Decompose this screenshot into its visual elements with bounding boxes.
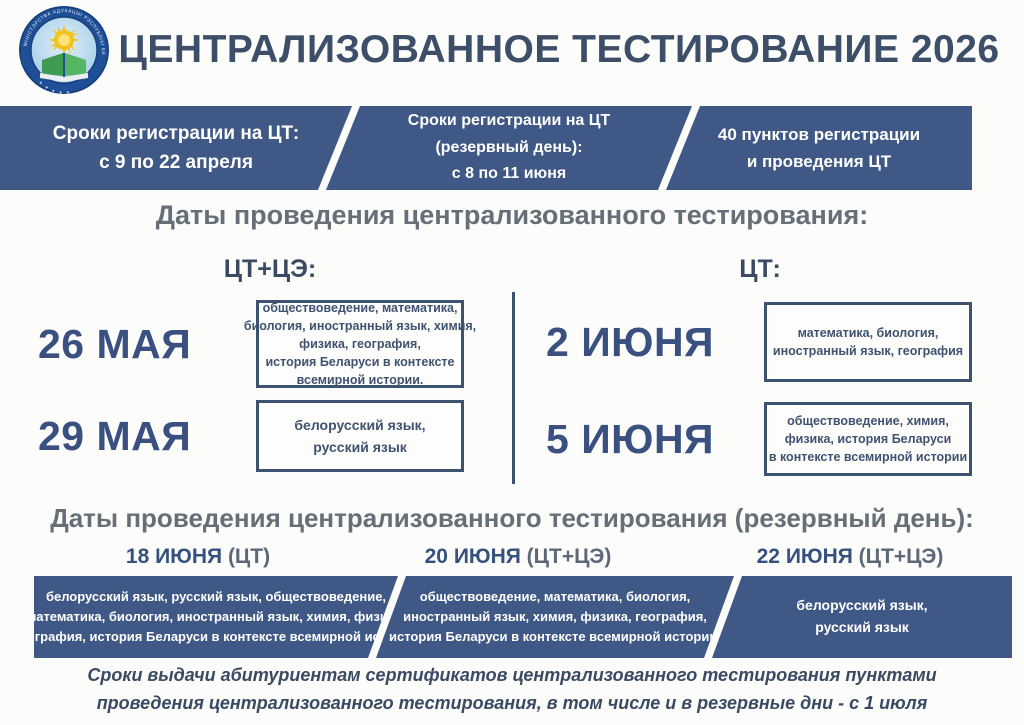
subject-line: математика, биология, bbox=[798, 324, 939, 342]
page-title: ЦЕНТРАЛИЗОВАННОЕ ТЕСТИРОВАНИЕ 2026 bbox=[116, 28, 1024, 72]
reserve-date-text: 22 ИЮНЯ bbox=[757, 545, 853, 568]
subjects-box-2-june: математика, биология, иностранный язык, … bbox=[764, 302, 972, 382]
date-label-2-june: 2 ИЮНЯ bbox=[546, 319, 764, 366]
banner-seg2-line2: (резервный день): bbox=[435, 135, 582, 161]
banner-seg1-line1: Сроки регистрации на ЦТ: bbox=[53, 119, 299, 148]
subject-line: история Беларуси в контексте всемирной и… bbox=[389, 627, 721, 647]
subject-line: обществоведение, математика, bbox=[263, 299, 458, 317]
reserve-subjects-box-20-june: обществоведение, математика, биология, и… bbox=[376, 576, 734, 658]
ministry-emblem-logo: МІНІСТЭРСТВА АДУКАЦЫІ РЭСПУБЛІКІ БЕЛАРУС… bbox=[12, 2, 116, 98]
footer-line-1: Сроки выдачи абитуриентам сертификатов ц… bbox=[40, 662, 984, 690]
subject-line: физика, география, bbox=[299, 335, 421, 353]
reserve-date-label-20-june: 20 ИЮНЯ (ЦТ+ЦЭ) bbox=[368, 545, 668, 569]
banner-seg3-line1: 40 пунктов регистрации bbox=[718, 121, 920, 148]
subject-line: в контексте всемирной истории bbox=[769, 448, 967, 466]
banner-seg3-line2: и проведения ЦТ bbox=[747, 148, 891, 175]
reserve-date-text: 18 ИЮНЯ bbox=[126, 545, 222, 568]
reserve-date-text: 20 ИЮНЯ bbox=[425, 545, 521, 568]
banner-segment-points-count: 40 пунктов регистрации и проведения ЦТ bbox=[666, 106, 972, 190]
subject-line: обществоведение, математика, биология, bbox=[420, 587, 691, 607]
reserve-type-text: (ЦТ+ЦЭ) bbox=[859, 545, 944, 568]
subject-line: биология, иностранный язык, химия, bbox=[244, 317, 476, 335]
banner-seg1-line2: с 9 по 22 апреля bbox=[99, 148, 253, 177]
subject-line: физика, история Беларуси bbox=[785, 430, 952, 448]
reserve-type-text: (ЦТ) bbox=[228, 545, 270, 568]
subjects-box-29-may: белорусский язык, русский язык bbox=[256, 400, 464, 472]
reserve-section-heading: Даты проведения централизованного тестир… bbox=[0, 503, 1024, 534]
subjects-box-26-may: обществоведение, математика, биология, и… bbox=[256, 300, 464, 388]
column-label-ct: ЦТ: bbox=[610, 255, 910, 284]
poster-header: МІНІСТЭРСТВА АДУКАЦЫІ РЭСПУБЛІКІ БЕЛАРУС… bbox=[0, 0, 1024, 100]
subject-line: белорусский язык, русский язык, общество… bbox=[46, 587, 386, 607]
main-section-heading: Даты проведения централизованного тестир… bbox=[0, 200, 1024, 231]
date-row-29-may: 29 МАЯ белорусский язык, русский язык bbox=[38, 400, 464, 472]
subject-line: белорусский язык, bbox=[796, 595, 927, 617]
reserve-subjects-box-18-june: белорусский язык, русский язык, общество… bbox=[34, 576, 398, 658]
reserve-subject-boxes: белорусский язык, русский язык, общество… bbox=[0, 576, 1024, 658]
date-row-26-may: 26 МАЯ обществоведение, математика, биол… bbox=[38, 300, 464, 388]
column-label-ct-ce: ЦТ+ЦЭ: bbox=[120, 255, 420, 284]
banner-segment-registration-dates: Сроки регистрации на ЦТ: с 9 по 22 апрел… bbox=[0, 106, 352, 190]
emblem-icon: МІНІСТЭРСТВА АДУКАЦЫІ РЭСПУБЛІКІ БЕЛАРУС… bbox=[16, 4, 112, 96]
column-divider bbox=[512, 292, 515, 484]
date-label-5-june: 5 ИЮНЯ bbox=[546, 416, 764, 463]
banner-seg2-line3: с 8 по 11 июня bbox=[452, 161, 566, 187]
banner-seg2-line1: Сроки регистрации на ЦТ bbox=[408, 108, 610, 134]
subject-line: математика, биология, иностранный язык, … bbox=[34, 607, 398, 627]
date-row-2-june: 2 ИЮНЯ математика, биология, иностранный… bbox=[546, 302, 972, 382]
registration-banner: Сроки регистрации на ЦТ: с 9 по 22 апрел… bbox=[0, 106, 1024, 190]
reserve-subjects-box-22-june: белорусский язык, русский язык bbox=[712, 576, 1012, 658]
subject-line: всемирной истории. bbox=[297, 371, 424, 389]
footer-line-2: проведения централизованного тестировани… bbox=[40, 690, 984, 718]
subject-line: обществоведение, химия, bbox=[787, 412, 949, 430]
date-label-29-may: 29 МАЯ bbox=[38, 413, 256, 460]
subject-line: история Беларуси в контексте bbox=[266, 353, 455, 371]
subject-line: иностранный язык, география bbox=[773, 342, 963, 360]
subject-line: белорусский язык, bbox=[294, 414, 425, 436]
date-label-26-may: 26 МАЯ bbox=[38, 321, 256, 368]
reserve-date-label-22-june: 22 ИЮНЯ (ЦТ+ЦЭ) bbox=[700, 545, 1000, 569]
subject-line: география, история Беларуси в контексте … bbox=[34, 627, 398, 647]
subject-line: русский язык bbox=[313, 436, 407, 458]
banner-segment-reserve-registration: Сроки регистрации на ЦТ (резервный день)… bbox=[326, 106, 692, 190]
poster-footer: Сроки выдачи абитуриентам сертификатов ц… bbox=[0, 662, 1024, 718]
infographic-poster: МІНІСТЭРСТВА АДУКАЦЫІ РЭСПУБЛІКІ БЕЛАРУС… bbox=[0, 0, 1024, 725]
subject-line: русский язык bbox=[815, 617, 909, 639]
date-row-5-june: 5 ИЮНЯ обществоведение, химия, физика, и… bbox=[546, 402, 972, 476]
subjects-box-5-june: обществоведение, химия, физика, история … bbox=[764, 402, 972, 476]
subject-line: иностранный язык, химия, физика, географ… bbox=[403, 607, 707, 627]
reserve-date-label-18-june: 18 ИЮНЯ (ЦТ) bbox=[48, 545, 348, 569]
reserve-type-text: (ЦТ+ЦЭ) bbox=[527, 545, 612, 568]
